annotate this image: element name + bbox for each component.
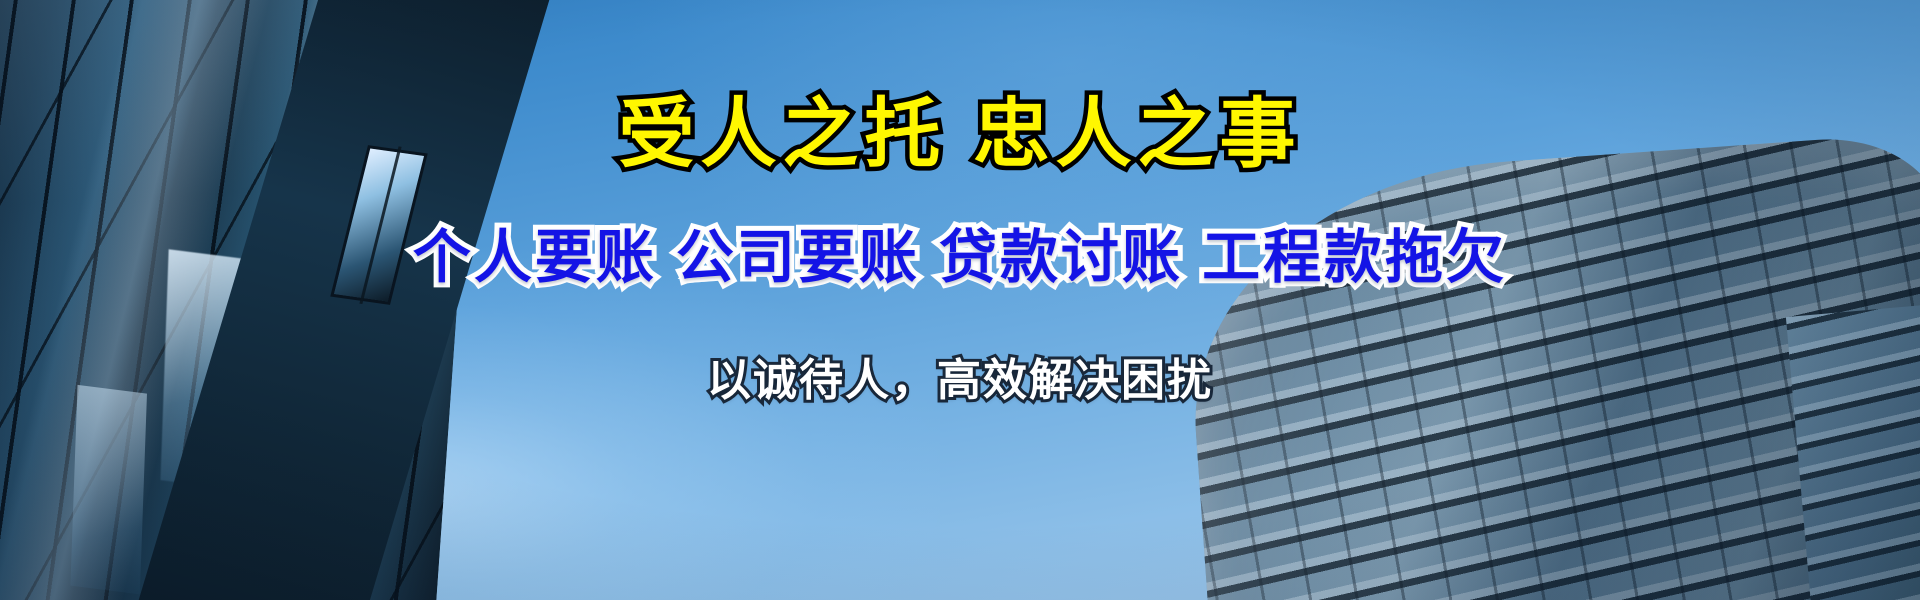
promotional-banner: 受人之托 忠人之事 个人要账 公司要账 贷款讨账 工程款拖欠 以诚待人，高效解决…: [0, 0, 1920, 600]
banner-headline: 受人之托 忠人之事: [618, 72, 1301, 182]
banner-services-line: 个人要账 公司要账 贷款讨账 工程款拖欠: [413, 210, 1507, 294]
banner-tagline: 以诚待人，高效解决困扰: [707, 344, 1213, 408]
right-tower-side-slab: [1786, 304, 1920, 600]
right-slab-window-bands: [1786, 304, 1920, 600]
left-building-bright-panel-lower: [70, 385, 147, 594]
